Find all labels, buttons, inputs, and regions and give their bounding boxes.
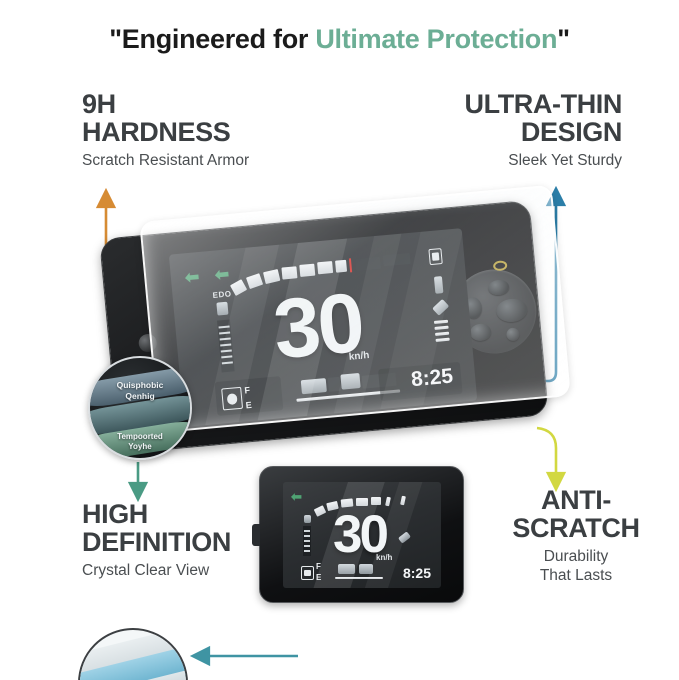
headline-prefix: "Engineered for (109, 24, 315, 54)
fuel-pump-icon (301, 566, 314, 580)
fuel-level-gauge (303, 526, 311, 556)
screen-protector-overlay (139, 185, 571, 434)
feature-ultra-thin-design: ULTRA-THIN DESIGN Sleek Yet Sturdy (465, 90, 622, 171)
layer-cutaway-badge (78, 628, 188, 680)
feature-subtitle: Durability That Lasts (501, 548, 651, 585)
trip-progress-bar (335, 577, 383, 579)
fuel-full-label: F (316, 562, 321, 571)
fuel-empty-label: E (316, 573, 321, 582)
trip-tile (338, 564, 355, 574)
turn-signal-left-icon: ⬅ (291, 490, 302, 503)
gauge-top-indicator (304, 515, 311, 523)
feature-9h-hardness: 9H HARDNESS Scratch Resistant Armor (82, 90, 249, 171)
infographic-canvas: "Engineered for Ultimate Protection" (0, 0, 679, 680)
feature-title: 9H HARDNESS (82, 90, 249, 146)
headline-accent: Ultimate Protection (315, 24, 557, 54)
badge-label-top: Quisphobic Qenhig (90, 380, 190, 401)
device-screen: ⬅ 30 kn/h F E (283, 482, 441, 588)
feature-title: ULTRA-THIN DESIGN (465, 90, 622, 146)
dashboard-ui: ⬅ 30 kn/h F E (283, 482, 441, 588)
feature-subtitle: Crystal Clear View (82, 562, 231, 581)
device-side-button[interactable] (252, 524, 260, 546)
clock-value: 8:25 (403, 565, 431, 581)
feature-title: HIGH DEFINITION (82, 500, 231, 556)
badge-label-bottom: Tempoorted Yoyhe (90, 432, 190, 452)
trip-tile (359, 564, 373, 574)
slash-indicator-icon (398, 531, 411, 543)
speed-bar-segment (314, 505, 326, 517)
feature-anti-scratch: ANTI- SCRATCH Durability That Lasts (501, 486, 651, 585)
dashboard-device-small: ⬅ 30 kn/h F E (259, 466, 464, 603)
layer-structure-badge: Quisphobic Qenhig Tempoorted Yoyhe (88, 356, 192, 460)
feature-high-definition: HIGH DEFINITION Crystal Clear View (82, 500, 231, 581)
headline-suffix: " (557, 24, 570, 54)
page-title: "Engineered for Ultimate Protection" (0, 24, 679, 55)
speed-bar-segment (400, 496, 406, 506)
feature-subtitle: Sleek Yet Sturdy (465, 152, 622, 171)
speed-bar-segment (371, 497, 381, 505)
feature-title: ANTI- SCRATCH (501, 486, 651, 542)
speed-unit: kn/h (376, 553, 392, 562)
feature-subtitle: Scratch Resistant Armor (82, 152, 249, 171)
